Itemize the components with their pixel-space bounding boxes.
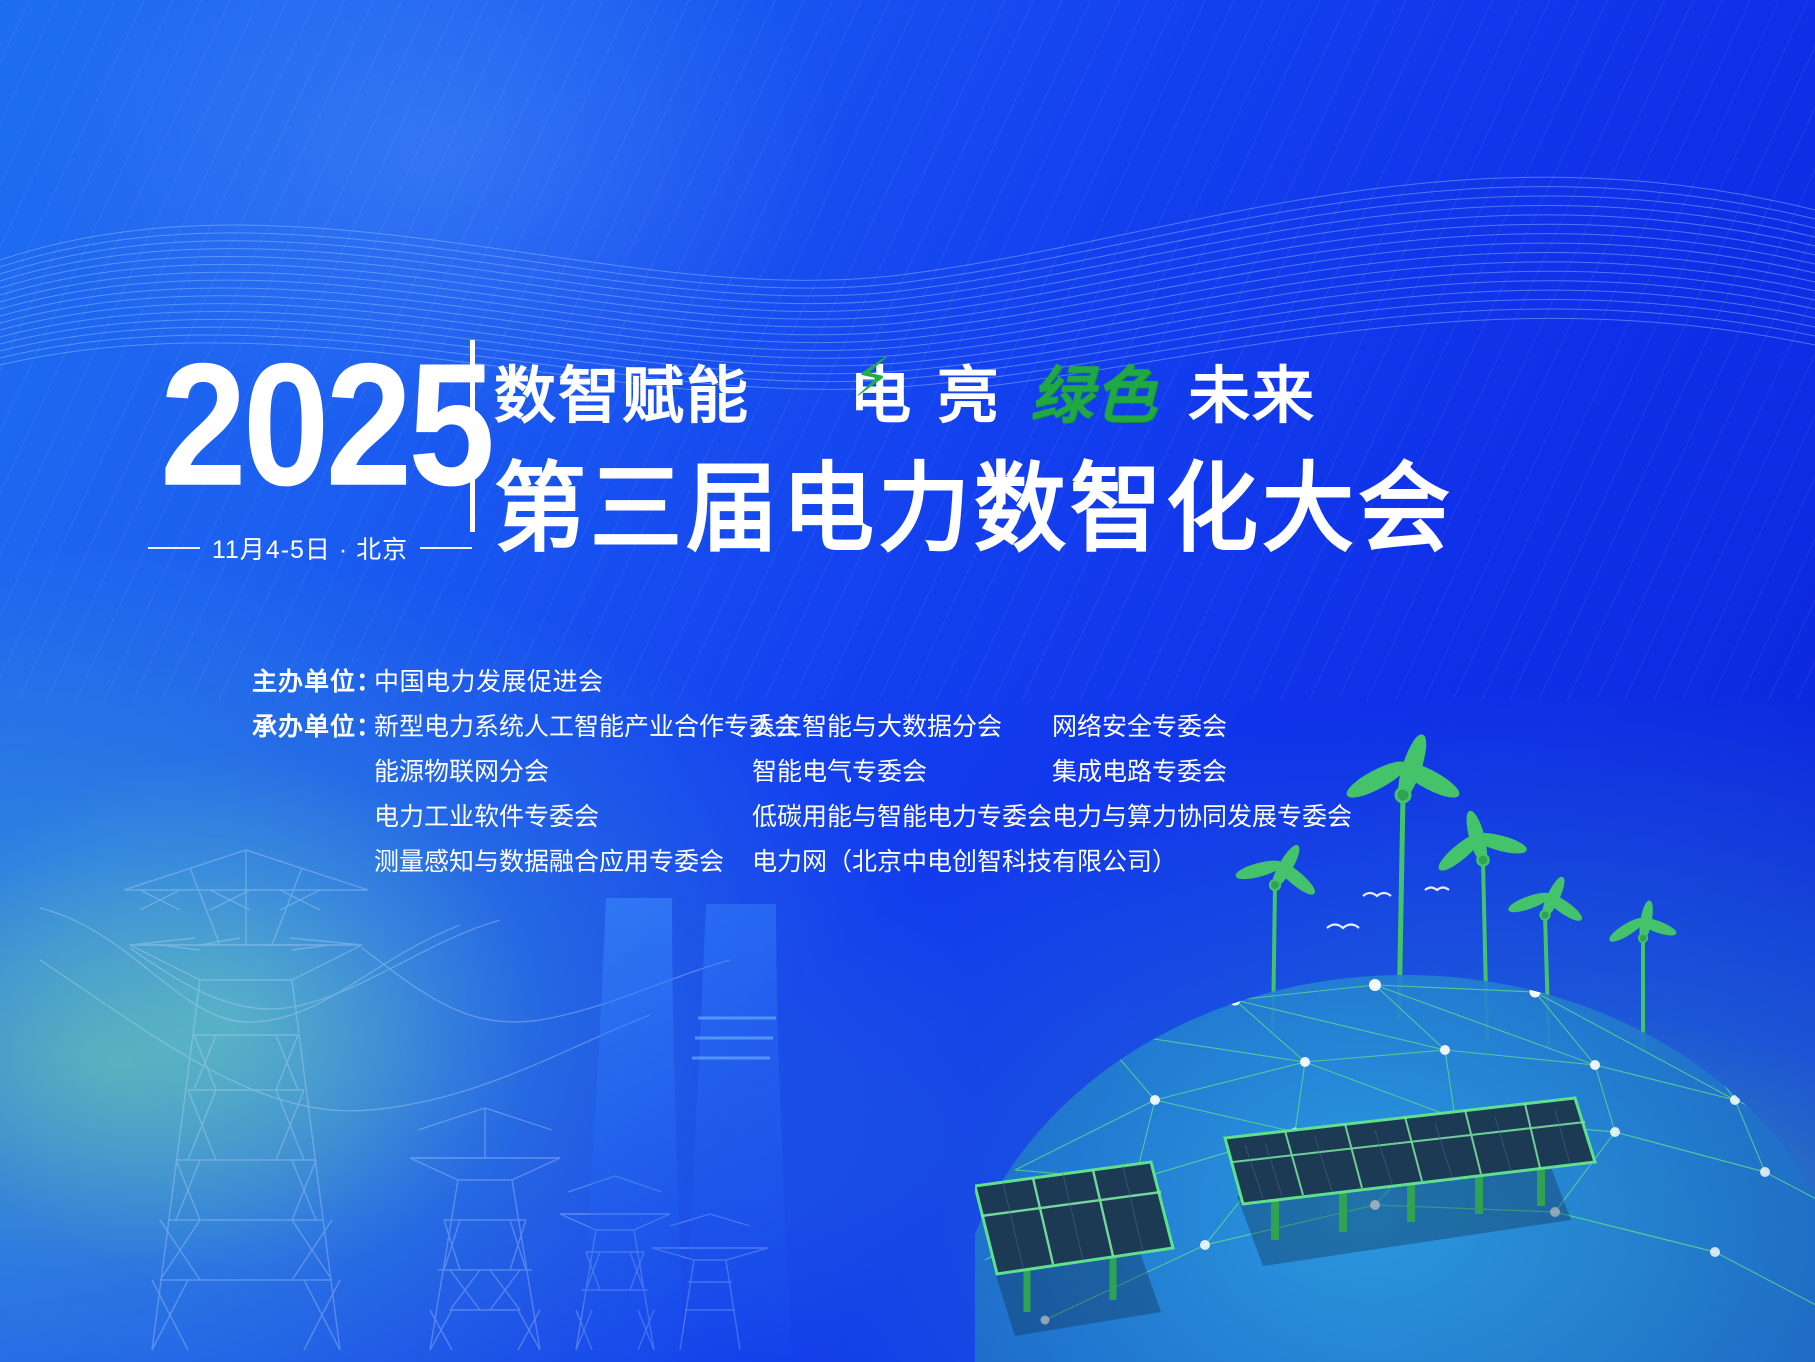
host-line: 主办单位： 中国电力发展促进会 [252, 662, 1352, 698]
host-label: 主办单位： [252, 662, 374, 698]
co-organizer-item: 人工智能与大数据分会 [752, 707, 1052, 743]
date-rule-right [420, 547, 472, 549]
co-organizer-item: 网络安全专委会 [1052, 707, 1352, 743]
date-location-row: 11月4-5日 · 北京 [160, 530, 460, 566]
co-organizer-row-4: 测量感知与数据融合应用专委会 电力网（北京中电创智科技有限公司） [252, 842, 1352, 878]
main-title: 第三届电力数智化大会 [494, 430, 1454, 571]
conference-poster: 2025 11月4-5日 · 北京 数智赋能 电⚡ 亮 绿色 未来 第三届电力数… [0, 0, 1815, 1362]
co-organizer-item: 电力工业软件专委会 [374, 797, 752, 833]
co-organizer-item: 集成电路专委会 [1052, 752, 1352, 788]
co-organizer-label: 承办单位： [252, 707, 374, 743]
slogan-dian-with-bolt: 电⚡ [849, 345, 913, 435]
slogan-line: 数智赋能 电⚡ 亮 绿色 未来 [494, 345, 1316, 435]
co-organizer-columns-2: 能源物联网分会 智能电气专委会 集成电路专委会 [374, 752, 1352, 788]
slogan-part-1: 数智赋能 [494, 359, 750, 432]
co-organizer-row-1: 承办单位： 新型电力系统人工智能产业合作专委会 人工智能与大数据分会 网络安全专… [252, 707, 1352, 743]
co-organizer-item: 新型电力系统人工智能产业合作专委会 [374, 707, 752, 743]
slogan-future: 未来 [1188, 359, 1316, 432]
date-location-text: 11月4-5日 · 北京 [212, 530, 408, 566]
poster-text-layer: 2025 11月4-5日 · 北京 数智赋能 电⚡ 亮 绿色 未来 第三届电力数… [0, 0, 1815, 1362]
co-organizer-item: 电力网（北京中电创智科技有限公司） [752, 842, 1052, 878]
co-organizer-item: 电力与算力协同发展专委会 [1052, 797, 1352, 833]
host-value: 中国电力发展促进会 [374, 662, 604, 698]
co-organizer-row-3: 电力工业软件专委会 低碳用能与智能电力专委会 电力与算力协同发展专委会 [252, 797, 1352, 833]
year-block: 2025 11月4-5日 · 北京 [160, 338, 460, 566]
slogan-green-word: 绿色 [1024, 359, 1164, 432]
co-organizer-item: 测量感知与数据融合应用专委会 [374, 842, 752, 878]
date-rule-left [148, 547, 200, 549]
organizers-block: 主办单位： 中国电力发展促进会 承办单位： 新型电力系统人工智能产业合作专委会 … [252, 662, 1352, 887]
co-organizer-columns-1: 新型电力系统人工智能产业合作专委会 人工智能与大数据分会 网络安全专委会 [374, 707, 1352, 743]
co-organizer-row-2: 能源物联网分会 智能电气专委会 集成电路专委会 [252, 752, 1352, 788]
year-number: 2025 [160, 338, 460, 513]
co-organizer-columns-4: 测量感知与数据融合应用专委会 电力网（北京中电创智科技有限公司） [374, 842, 1052, 878]
lightning-bolt-icon: ⚡ [853, 351, 879, 403]
co-organizer-item: 智能电气专委会 [752, 752, 1052, 788]
co-organizer-item: 低碳用能与智能电力专委会 [752, 797, 1052, 833]
slogan-liang: 亮 [937, 359, 1001, 432]
title-divider-line [470, 340, 475, 532]
co-organizer-item: 能源物联网分会 [374, 752, 752, 788]
co-organizer-columns-3: 电力工业软件专委会 低碳用能与智能电力专委会 电力与算力协同发展专委会 [374, 797, 1352, 833]
